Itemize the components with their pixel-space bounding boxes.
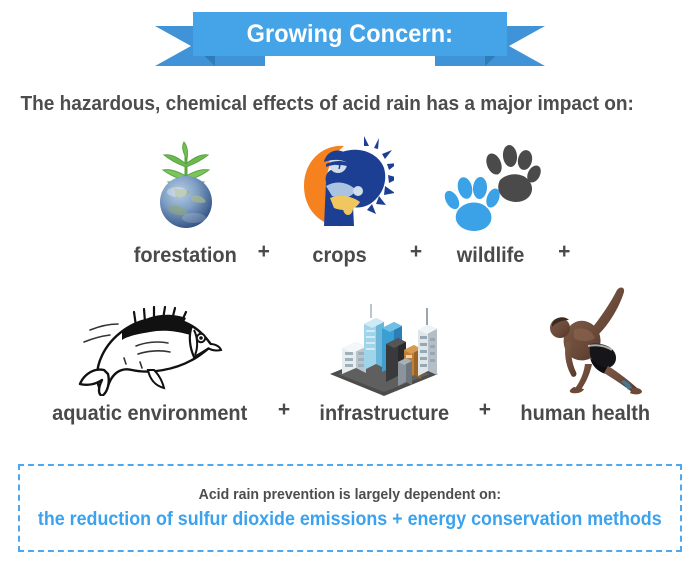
impact-separator: + (278, 399, 290, 426)
impact-item-infrastructure: infrastructure (316, 300, 453, 426)
impacts-row-1: forestation + (0, 134, 700, 268)
impacts-row-2: aquatic environment + (0, 284, 700, 426)
impact-separator: + (258, 241, 270, 268)
impact-separator-trailing: + (558, 241, 570, 268)
prevention-note-line-1: Acid rain prevention is largely dependen… (199, 486, 501, 503)
impact-item-human-health: human health (517, 284, 654, 426)
impact-label: human health (520, 402, 650, 426)
city-buildings-icon (324, 300, 444, 396)
impact-item-wildlife: wildlife (438, 134, 542, 268)
impact-item-aquatic-environment: aquatic environment (47, 300, 252, 426)
prevention-note-box: Acid rain prevention is largely dependen… (18, 464, 682, 552)
farmer-scythe-icon (286, 134, 394, 238)
paw-prints-icon (438, 134, 542, 238)
impact-item-crops: crops (286, 134, 394, 268)
yoga-pose-icon (520, 284, 650, 396)
impact-label: aquatic environment (52, 402, 247, 426)
impact-label: infrastructure (320, 402, 450, 426)
impact-separator: + (410, 241, 422, 268)
banner-title: Growing Concern: (247, 20, 453, 49)
banner-ribbon: Growing Concern: (0, 0, 700, 78)
globe-sprout-icon (130, 134, 242, 238)
impact-label: wildlife (456, 244, 524, 268)
impact-label: crops (313, 244, 367, 268)
impact-label: forestation (134, 244, 237, 268)
banner-body: Growing Concern: (193, 12, 507, 56)
prevention-note-line-2: the reduction of sulfur dioxide emission… (38, 509, 662, 531)
infographic-page: Growing Concern: The hazardous, chemical… (0, 0, 700, 572)
impact-separator: + (479, 399, 491, 426)
impact-item-forestation: forestation (130, 134, 242, 268)
leaping-fish-icon (74, 300, 224, 396)
page-heading: The hazardous, chemical effects of acid … (0, 92, 651, 116)
